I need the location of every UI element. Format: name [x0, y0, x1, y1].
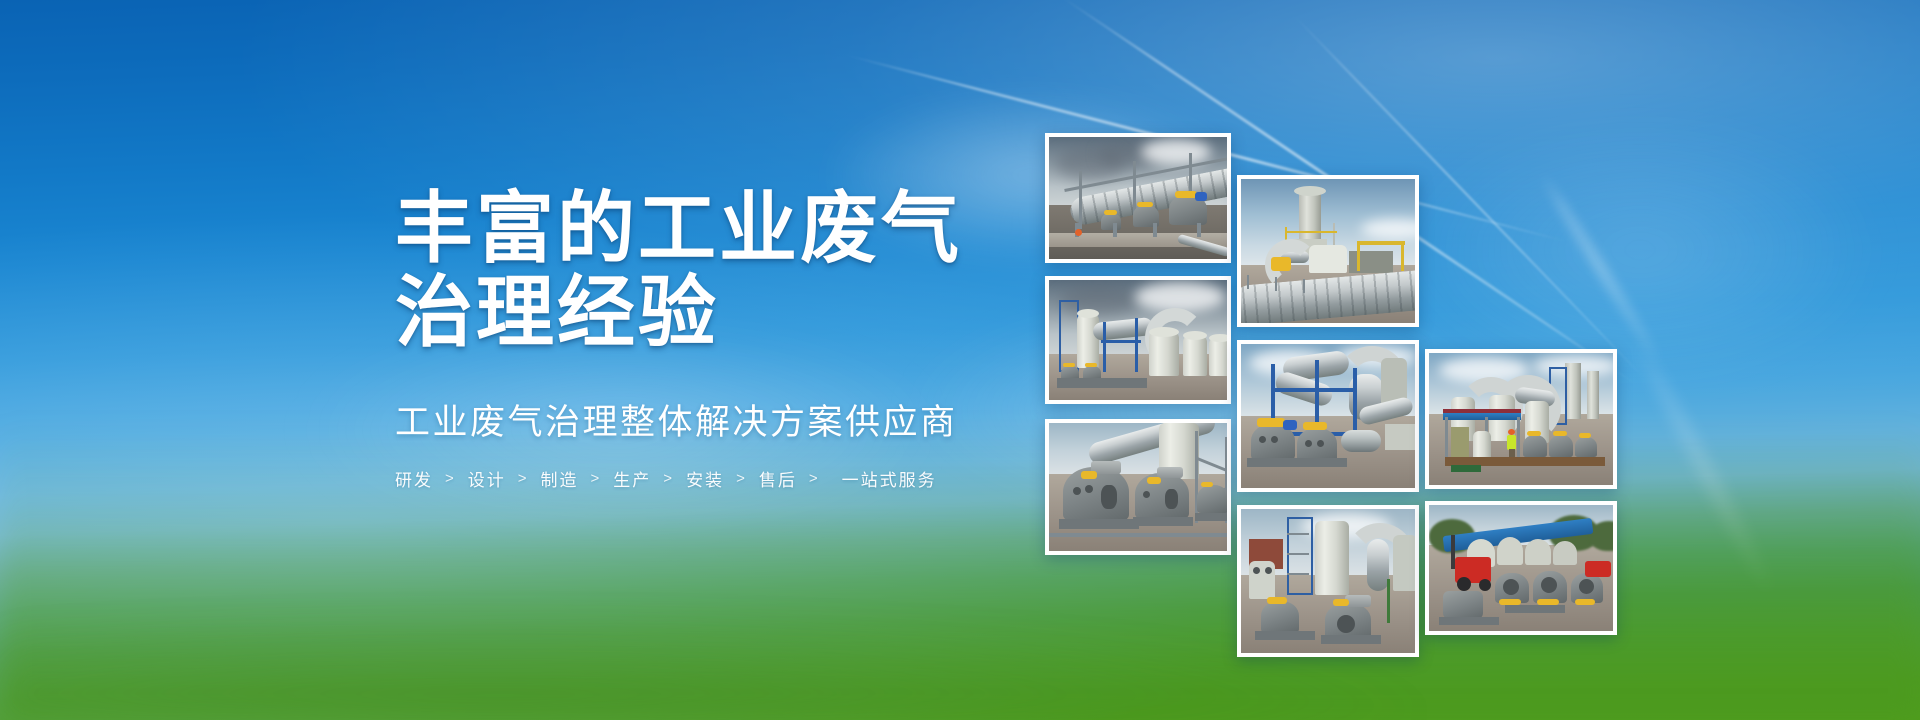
gallery-photo[interactable]: [1237, 505, 1419, 657]
cloud-haze: [1400, 120, 1880, 380]
ground-vignette: [0, 570, 1920, 720]
gallery-photo[interactable]: [1425, 349, 1617, 489]
breadcrumb-separator-icon: >: [445, 470, 456, 487]
breadcrumb-item-6: 一站式服务: [842, 466, 937, 491]
breadcrumb-separator-icon: >: [809, 470, 820, 487]
gallery-photo[interactable]: [1045, 133, 1231, 263]
breadcrumb-separator-icon: >: [591, 470, 602, 487]
gallery-photo[interactable]: [1425, 501, 1617, 635]
contrail-streak: [1626, 330, 1781, 602]
contrail-streak: [1535, 168, 1667, 369]
headline-line-1: 丰富的工业废气: [395, 184, 962, 272]
breadcrumb-item-2: 制造: [541, 466, 579, 491]
gallery-photo[interactable]: [1045, 276, 1231, 404]
breadcrumb-item-3: 生产: [613, 466, 651, 491]
hero-banner: 丰富的工业废气 治理经验 工业废气治理整体解决方案供应商 研发 > 设计 > 制…: [0, 0, 1920, 720]
breadcrumb-separator-icon: >: [736, 470, 747, 487]
headline-line-2: 治理经验: [395, 270, 1035, 354]
gallery-photo[interactable]: [1237, 340, 1419, 492]
breadcrumb-item-4: 安装: [686, 466, 724, 491]
breadcrumb-item-0: 研发: [395, 466, 433, 491]
gallery-photo[interactable]: [1237, 175, 1419, 327]
breadcrumb-separator-icon: >: [518, 470, 529, 487]
hero-subtitle: 工业废气治理整体解决方案供应商: [395, 402, 1035, 444]
breadcrumb-separator-icon: >: [663, 470, 674, 487]
breadcrumb-item-5: 售后: [759, 466, 797, 491]
breadcrumb-item-1: 设计: [468, 466, 506, 491]
process-breadcrumb: 研发 > 设计 > 制造 > 生产 > 安装 > 售后 > 一站式服务: [395, 466, 1035, 491]
hero-copy: 丰富的工业废气 治理经验 工业废气治理整体解决方案供应商 研发 > 设计 > 制…: [395, 186, 1035, 491]
page-title: 丰富的工业废气 治理经验: [395, 186, 1035, 354]
gallery-photo[interactable]: [1045, 419, 1231, 555]
